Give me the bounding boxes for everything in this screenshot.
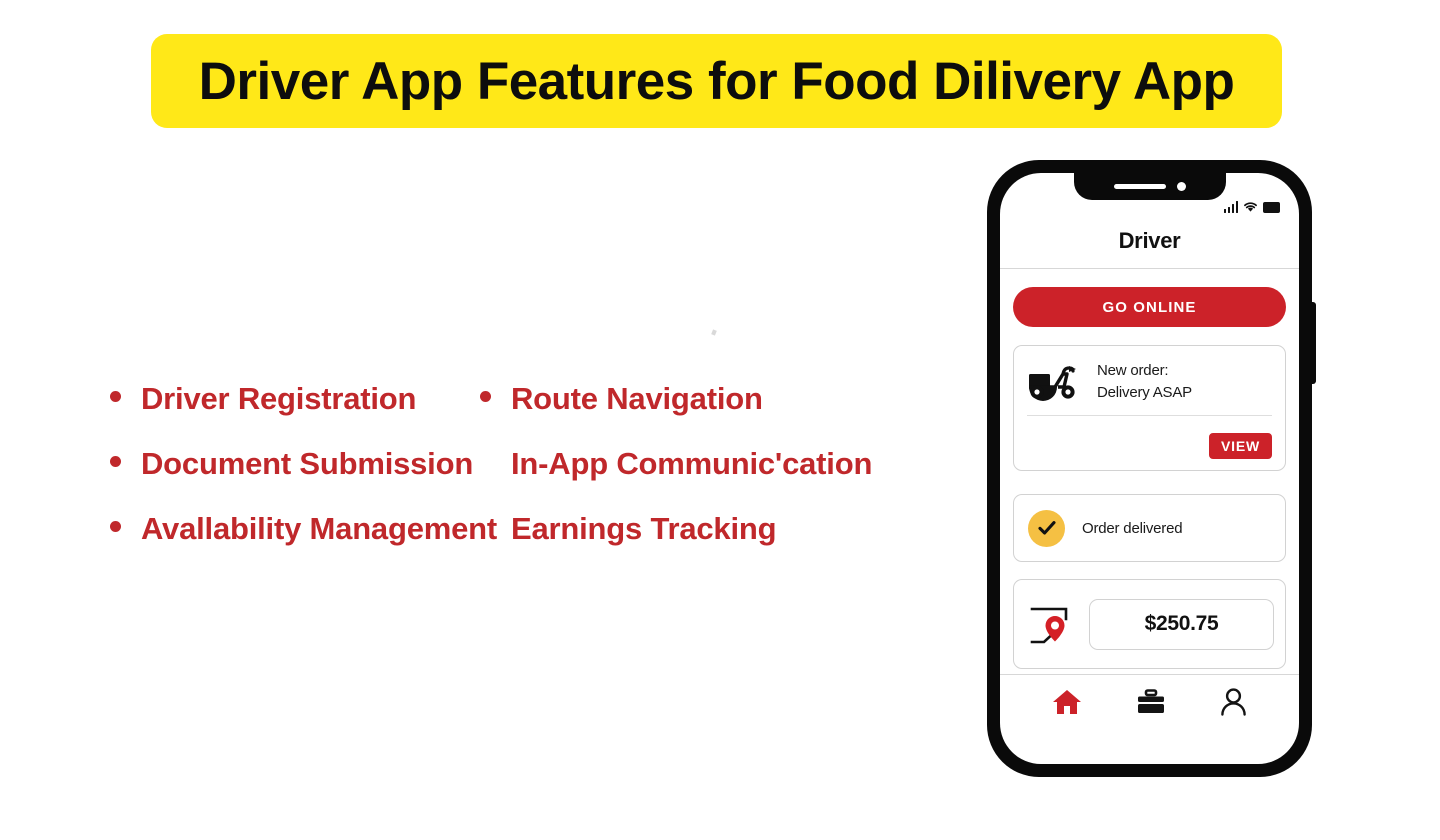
feature-item: Route Navigation <box>480 381 900 417</box>
view-order-button[interactable]: VIEW <box>1209 433 1272 459</box>
page-title: Driver App Features for Food Dilivery Ap… <box>199 51 1235 112</box>
signal-bars-icon <box>1224 201 1239 213</box>
route-pin-icon <box>1025 597 1080 652</box>
app-title: Driver <box>1000 228 1299 254</box>
bullet-dot-icon <box>110 391 121 402</box>
earnings-card[interactable]: $250.75 <box>1013 579 1286 669</box>
order-line-1: New order: <box>1097 360 1192 382</box>
feature-item: Document Submission <box>110 446 480 482</box>
order-line-2: Delivery ASAP <box>1097 382 1192 404</box>
nav-profile-button[interactable] <box>1220 688 1247 716</box>
nav-orders-button[interactable] <box>1137 689 1165 715</box>
notch <box>1074 173 1226 200</box>
feature-label: Earnings Tracking <box>511 511 776 547</box>
feature-item: In-App Communic'cation <box>480 446 900 482</box>
bullet-dot-icon <box>110 456 121 467</box>
phone-mockup: Driver GO ONLINE <box>987 160 1312 777</box>
check-circle-icon <box>1028 510 1065 547</box>
phone-screen: Driver GO ONLINE <box>1000 173 1299 764</box>
delivered-label: Order delivered <box>1082 520 1182 537</box>
status-bar <box>1224 199 1281 213</box>
order-delivered-card[interactable]: Order delivered <box>1013 494 1286 562</box>
feature-list: Driver Registration Route Navigation Doc… <box>110 381 940 576</box>
earnings-row: $250.75 <box>1014 580 1285 668</box>
order-text: New order: Delivery ASAP <box>1097 360 1192 404</box>
battery-icon <box>1263 202 1280 213</box>
feature-row: Driver Registration Route Navigation <box>110 381 940 446</box>
nav-home-button[interactable] <box>1052 688 1082 716</box>
front-camera-icon <box>1177 182 1186 191</box>
go-online-button[interactable]: GO ONLINE <box>1013 287 1286 327</box>
amount-box: $250.75 <box>1089 599 1274 650</box>
bullet-dot-icon <box>110 521 121 532</box>
artifact-speck <box>711 329 717 335</box>
bullet-dot-icon <box>480 391 491 402</box>
feature-row: Avallability Management Earnings Trackin… <box>110 511 940 576</box>
feature-row: Document Submission In-App Communic'cati… <box>110 446 940 511</box>
order-card-body: New order: Delivery ASAP <box>1014 346 1285 404</box>
feature-label: Driver Registration <box>141 381 416 417</box>
new-order-card[interactable]: New order: Delivery ASAP VIEW <box>1013 345 1286 471</box>
bottom-nav <box>1000 675 1299 729</box>
title-banner: Driver App Features for Food Dilivery Ap… <box>151 34 1282 128</box>
feature-label: In-App Communic'cation <box>511 446 872 482</box>
wifi-icon <box>1243 201 1258 213</box>
feature-label: Document Submission <box>141 446 473 482</box>
feature-label: Route Navigation <box>511 381 763 417</box>
header-divider <box>1000 268 1299 269</box>
order-divider <box>1027 415 1272 416</box>
speaker-grille-icon <box>1114 184 1166 189</box>
slide-canvas: Driver App Features for Food Dilivery Ap… <box>0 0 1440 840</box>
feature-label: Avallability Management <box>141 511 497 547</box>
feature-item: Avallability Management <box>110 511 480 547</box>
feature-item: Earnings Tracking <box>480 511 900 547</box>
feature-item: Driver Registration <box>110 381 480 417</box>
earnings-amount: $250.75 <box>1145 612 1219 636</box>
scooter-icon <box>1027 361 1083 403</box>
power-button[interactable] <box>1311 302 1316 384</box>
delivered-row: Order delivered <box>1014 495 1285 561</box>
